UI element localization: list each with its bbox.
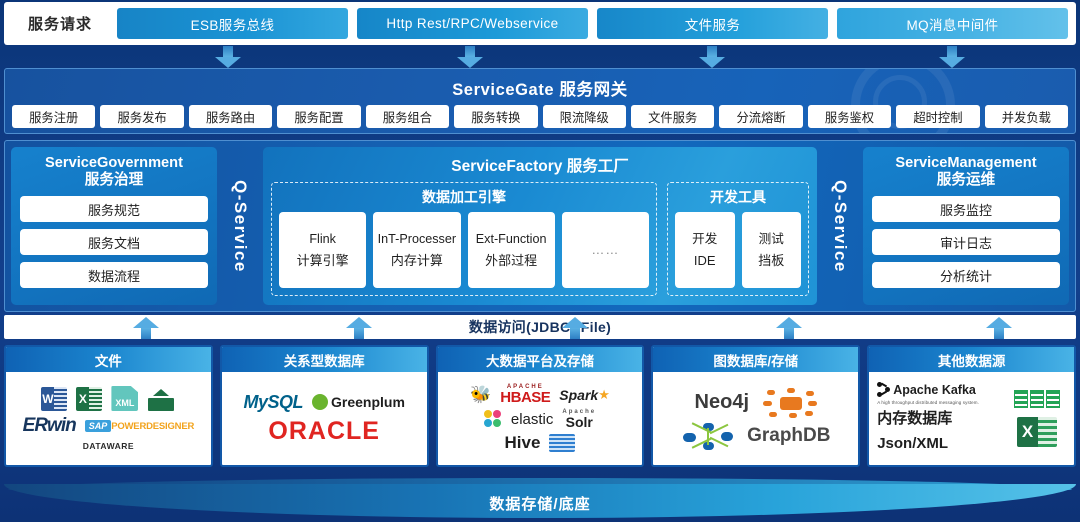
- solr-text: Solr: [566, 415, 593, 429]
- service-factory-title: ServiceFactory 服务工厂: [271, 154, 809, 176]
- engine-card-more[interactable]: ……: [562, 212, 649, 288]
- kafka-text: Apache Kafka: [893, 383, 976, 397]
- greenplum-mark-icon: [312, 394, 328, 410]
- engine-card-int-line1: InT-Processer: [378, 228, 456, 250]
- data-access-bar: 数据访问(JDBC&File): [4, 315, 1076, 339]
- spark-star-icon: ★: [598, 387, 610, 403]
- dev-tools-ide-line1: 开发: [692, 228, 717, 250]
- data-source-rdbms-title: 关系型数据库: [222, 347, 427, 372]
- data-source-other: 其他数据源 Apache Kafka A high throughput di: [867, 345, 1076, 467]
- management-item-audit-log[interactable]: 审计日志: [872, 229, 1060, 255]
- bigdata-logo-row-2: elastic Apache Solr: [441, 409, 640, 429]
- excel-icon-large: X: [1017, 417, 1057, 447]
- service-platform-band: ServiceGovernment 服务治理 服务规范 服务文档 数据流程 Q-…: [4, 140, 1076, 312]
- memory-db-text: 内存数据库: [877, 408, 1002, 430]
- engine-card-ext-line2: 外部过程: [485, 250, 537, 273]
- engine-card-flink-line1: Flink: [309, 228, 336, 250]
- service-government-panel: ServiceGovernment 服务治理 服务规范 服务文档 数据流程: [11, 147, 217, 305]
- q-service-left-text: Q-Service: [230, 180, 250, 273]
- mysql-logo: MySQL: [243, 392, 303, 413]
- engine-card-int-processer[interactable]: InT-Processer 内存计算: [373, 212, 460, 288]
- graphdb-hex-icon: [763, 388, 817, 418]
- gateway-chip-service-register[interactable]: 服务注册: [12, 105, 95, 128]
- gateway-chip-service-transform[interactable]: 服务转换: [454, 105, 537, 128]
- hbase-logo: APACHE HBASE: [500, 384, 550, 405]
- down-arrow-icon-4: [939, 46, 965, 68]
- neo4j-text: Neo4j: [695, 391, 749, 414]
- dataware-logo: DATAWARE: [83, 441, 134, 451]
- data-source-other-title: 其他数据源: [869, 347, 1074, 372]
- hive-text: Hive: [505, 433, 541, 453]
- gateway-chip-file-service[interactable]: 文件服务: [631, 105, 714, 128]
- graphdb-logo-row-2: GraphDB: [656, 422, 855, 450]
- dev-tools-test-line2: 挡板: [758, 250, 784, 273]
- request-channel-http[interactable]: Http Rest/RPC/Webservice: [357, 8, 588, 39]
- gateway-chip-auth[interactable]: 服务鉴权: [808, 105, 891, 128]
- down-arrow-icon-2: [457, 46, 483, 68]
- gateway-chip-service-compose[interactable]: 服务组合: [366, 105, 449, 128]
- data-source-graphdb-title: 图数据库/存储: [653, 347, 858, 372]
- file-logo-row-2: ERwin SAP POWERDESIGNER: [9, 415, 208, 437]
- data-source-panel-row: 文件 W X XML ERwin SAP POWERDESIGNER DATAW…: [4, 345, 1076, 467]
- graphdb-text: GraphDB: [747, 425, 830, 447]
- solr-logo: Apache Solr: [562, 409, 596, 429]
- management-item-monitor[interactable]: 服务监控: [872, 196, 1060, 222]
- data-source-bigdata-body: 🐝 APACHE HBASE Spark ★: [438, 372, 643, 465]
- kafka-logo: Apache Kafka: [877, 382, 1002, 397]
- gateway-title: ServiceGate 服务网关: [5, 76, 1075, 100]
- service-request-label: 服务请求: [12, 13, 108, 34]
- graphdb-logo-row-1: Neo4j: [656, 388, 855, 418]
- gateway-chip-concurrency[interactable]: 并发负载: [985, 105, 1068, 128]
- greenplum-text: Greenplum: [331, 394, 405, 410]
- dev-tools-title: 开发工具: [675, 187, 801, 207]
- base-platform-label: 数据存储/底座: [489, 493, 590, 514]
- data-processing-engine-title: 数据加工引擎: [279, 187, 649, 207]
- service-request-bar: 服务请求 ESB服务总线 Http Rest/RPC/Webservice 文件…: [4, 2, 1076, 45]
- data-source-bigdata: 大数据平台及存储 🐝 APACHE HBASE Spark ★: [436, 345, 645, 467]
- gateway-chip-service-config[interactable]: 服务配置: [277, 105, 360, 128]
- hive-bee-icon: 🐝: [470, 385, 491, 405]
- data-source-file: 文件 W X XML ERwin SAP POWERDESIGNER DATAW…: [4, 345, 213, 467]
- rdbms-logo-row-2: ORACLE: [225, 417, 424, 446]
- engine-card-ext-function[interactable]: Ext-Function 外部过程: [468, 212, 555, 288]
- file-logo-row-3: DATAWARE: [9, 441, 208, 451]
- dev-tools-card-test-stub[interactable]: 测试 挡板: [742, 212, 802, 288]
- gateway-chip-circuit-breaker[interactable]: 分流熔断: [719, 105, 802, 128]
- service-management-title-cn: 服务运维: [872, 172, 1060, 189]
- csv-icon: [147, 387, 175, 411]
- hive-file-icon: [549, 434, 575, 452]
- word-icon: W: [41, 387, 67, 411]
- bigdata-logo-row-1: 🐝 APACHE HBASE Spark ★: [441, 384, 640, 405]
- gateway-chip-service-route[interactable]: 服务路由: [189, 105, 272, 128]
- gateway-capability-list: 服务注册 服务发布 服务路由 服务配置 服务组合 服务转换 限流降级 文件服务 …: [5, 100, 1075, 128]
- dev-tools-group: 开发工具 开发 IDE 测试 挡板: [667, 182, 809, 296]
- other-text-column: Apache Kafka A high throughput distribut…: [877, 377, 1002, 460]
- service-government-title: ServiceGovernment 服务治理: [20, 155, 208, 189]
- data-source-rdbms: 关系型数据库 MySQL Greenplum ORACLE: [220, 345, 429, 467]
- kafka-tagline: A high throughput distributed messaging …: [877, 400, 1002, 405]
- file-logo-row-1: W X XML: [9, 386, 208, 411]
- gateway-chip-service-publish[interactable]: 服务发布: [100, 105, 183, 128]
- service-government-title-cn: 服务治理: [20, 172, 208, 189]
- elastic-text: elastic: [511, 411, 554, 428]
- powerdesigner-text: POWERDESIGNER: [111, 421, 194, 432]
- data-source-file-title: 文件: [6, 347, 211, 372]
- request-channel-mq[interactable]: MQ消息中间件: [837, 8, 1068, 39]
- data-source-file-body: W X XML ERwin SAP POWERDESIGNER DATAWARE: [6, 372, 211, 465]
- request-channel-file[interactable]: 文件服务: [597, 8, 828, 39]
- data-source-graphdb-body: Neo4j: [653, 372, 858, 465]
- greenplum-logo: Greenplum: [312, 394, 405, 410]
- green-table-icon: [1014, 390, 1060, 408]
- q-service-right-text: Q-Service: [830, 180, 850, 273]
- dev-tools-card-ide[interactable]: 开发 IDE: [675, 212, 735, 288]
- service-gateway-panel: ServiceGate 服务网关 服务注册 服务发布 服务路由 服务配置 服务组…: [4, 68, 1076, 134]
- up-arrow-icon-4: [776, 317, 802, 339]
- neo4j-graph-icon: [681, 422, 735, 450]
- spark-text: Spark: [559, 387, 598, 403]
- bigdata-logo-row-3: Hive: [441, 433, 640, 453]
- up-arrow-icon-2: [346, 317, 372, 339]
- engine-card-flink[interactable]: Flink 计算引擎: [279, 212, 366, 288]
- dev-tools-test-line1: 测试: [759, 228, 784, 250]
- hbase-text: HBASE: [500, 390, 550, 405]
- request-channel-esb[interactable]: ESB服务总线: [117, 8, 348, 39]
- service-management-title: ServiceManagement 服务运维: [872, 155, 1060, 189]
- engine-card-int-line2: 内存计算: [391, 250, 443, 273]
- other-icon-column: X: [1008, 377, 1066, 460]
- gateway-chip-rate-limit[interactable]: 限流降级: [543, 105, 626, 128]
- engine-card-flink-line2: 计算引擎: [297, 250, 349, 273]
- service-management-title-en: ServiceManagement: [895, 155, 1036, 171]
- q-service-right-label: Q-Service: [817, 147, 863, 305]
- data-source-other-body: Apache Kafka A high throughput distribut…: [869, 372, 1074, 465]
- up-arrow-icon-5: [986, 317, 1012, 339]
- data-source-bigdata-title: 大数据平台及存储: [438, 347, 643, 372]
- xml-icon: XML: [111, 386, 138, 411]
- service-management-panel: ServiceManagement 服务运维 服务监控 审计日志 分析统计: [863, 147, 1069, 305]
- service-factory-body: 数据加工引擎 Flink 计算引擎 InT-Processer 内存计算 Ext…: [271, 182, 809, 296]
- government-item-dataflow[interactable]: 数据流程: [20, 262, 208, 288]
- excel-icon: X: [76, 387, 102, 411]
- q-service-left-label: Q-Service: [217, 147, 263, 305]
- base-platform-body: 数据存储/底座: [4, 484, 1076, 518]
- data-source-rdbms-body: MySQL Greenplum ORACLE: [222, 372, 427, 465]
- powerdesigner-logo: SAP POWERDESIGNER: [85, 420, 194, 432]
- spark-logo: Spark ★: [559, 387, 610, 403]
- down-arrow-icon-3: [699, 46, 725, 68]
- data-source-graphdb: 图数据库/存储 Neo4j: [651, 345, 860, 467]
- up-arrow-icon-3: [562, 317, 588, 339]
- dev-tools-card-list: 开发 IDE 测试 挡板: [675, 212, 801, 288]
- rdbms-logo-row-1: MySQL Greenplum: [225, 392, 424, 413]
- dev-tools-ide-line2: IDE: [694, 250, 716, 273]
- data-processing-engine-group: 数据加工引擎 Flink 计算引擎 InT-Processer 内存计算 Ext…: [271, 182, 657, 296]
- json-xml-text: Json/XML: [877, 433, 1002, 455]
- up-arrow-icon-1: [133, 317, 159, 339]
- erwin-logo: ERwin: [23, 415, 76, 437]
- architecture-diagram: 服务请求 ESB服务总线 Http Rest/RPC/Webservice 文件…: [0, 0, 1080, 522]
- government-item-spec[interactable]: 服务规范: [20, 196, 208, 222]
- elastic-mark-icon: [484, 410, 502, 428]
- government-item-doc[interactable]: 服务文档: [20, 229, 208, 255]
- service-factory-panel: ServiceFactory 服务工厂 数据加工引擎 Flink 计算引擎 In…: [263, 147, 817, 305]
- oracle-logo: ORACLE: [268, 417, 380, 446]
- down-arrow-icon-1: [215, 46, 241, 68]
- kafka-mark-icon: [877, 382, 890, 397]
- management-item-analytics[interactable]: 分析统计: [872, 262, 1060, 288]
- storage-base-platform: 数据存储/底座: [0, 478, 1080, 522]
- engine-card-ext-line1: Ext-Function: [476, 228, 547, 250]
- service-government-title-en: ServiceGovernment: [45, 155, 183, 171]
- engine-card-list: Flink 计算引擎 InT-Processer 内存计算 Ext-Functi…: [279, 212, 649, 288]
- sap-logo: SAP: [85, 420, 112, 432]
- gateway-chip-timeout[interactable]: 超时控制: [896, 105, 979, 128]
